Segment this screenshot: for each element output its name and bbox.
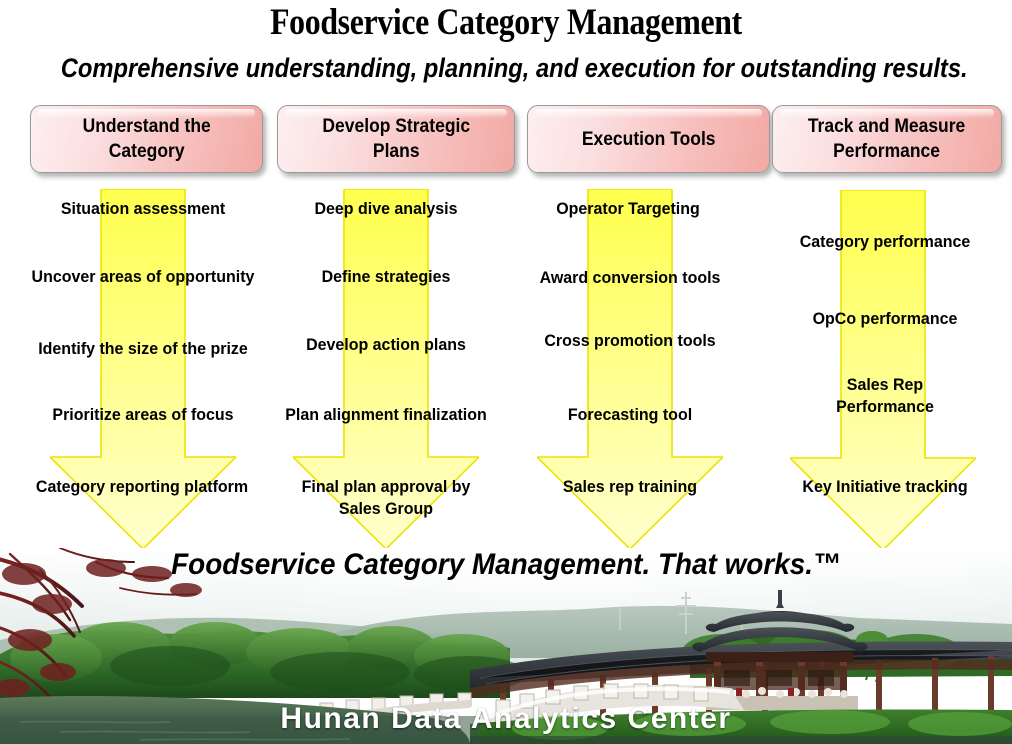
- step-item: Sales Rep Performance: [766, 374, 1005, 418]
- tagline: Foodservice Category Management. That wo…: [35, 547, 976, 583]
- step-item: Plan alignment finalization: [264, 404, 508, 426]
- step-item: Situation assessment: [18, 198, 268, 220]
- stage-header-label: Develop Strategic Plans: [315, 114, 477, 164]
- step-item: Forecasting tool: [510, 404, 751, 426]
- step-item: Key Initiative tracking: [766, 476, 1005, 498]
- stage-header-label: Understand the Category: [75, 114, 218, 164]
- step-item: Operator Targeting: [508, 198, 749, 220]
- step-item: Cross promotion tools: [510, 330, 751, 352]
- stage-header-understand-the-category[interactable]: Understand the Category: [30, 105, 263, 173]
- stage-header-develop-strategic-plans[interactable]: Develop Strategic Plans: [277, 105, 515, 173]
- page-title: Foodservice Category Management: [71, 2, 941, 44]
- page-subtitle: Comprehensive understanding, planning, a…: [61, 52, 952, 84]
- step-item: Sales rep training: [510, 476, 751, 498]
- stage-header-label: Track and Measure Performance: [801, 114, 973, 164]
- step-item: Develop action plans: [266, 334, 507, 356]
- photo-caption: Hunan Data Analytics Center: [0, 702, 1012, 736]
- step-item: Final plan approval by Sales Group: [264, 476, 508, 520]
- step-item: OpCo performance: [766, 308, 1005, 330]
- step-item: Identify the size of the prize: [18, 338, 268, 360]
- step-item: Award conversion tools: [510, 267, 751, 289]
- stage-header-track-and-measure-performance[interactable]: Track and Measure Performance: [772, 105, 1002, 173]
- step-item: Define strategies: [266, 266, 507, 288]
- stage-header-execution-tools[interactable]: Execution Tools: [527, 105, 770, 173]
- stage-header-label: Execution Tools: [574, 127, 722, 152]
- step-item: Prioritize areas of focus: [18, 404, 268, 426]
- step-item: Uncover areas of opportunity: [18, 266, 268, 288]
- step-item: Deep dive analysis: [266, 198, 507, 220]
- step-item: Category performance: [766, 231, 1005, 253]
- step-item: Category reporting platform: [14, 476, 270, 498]
